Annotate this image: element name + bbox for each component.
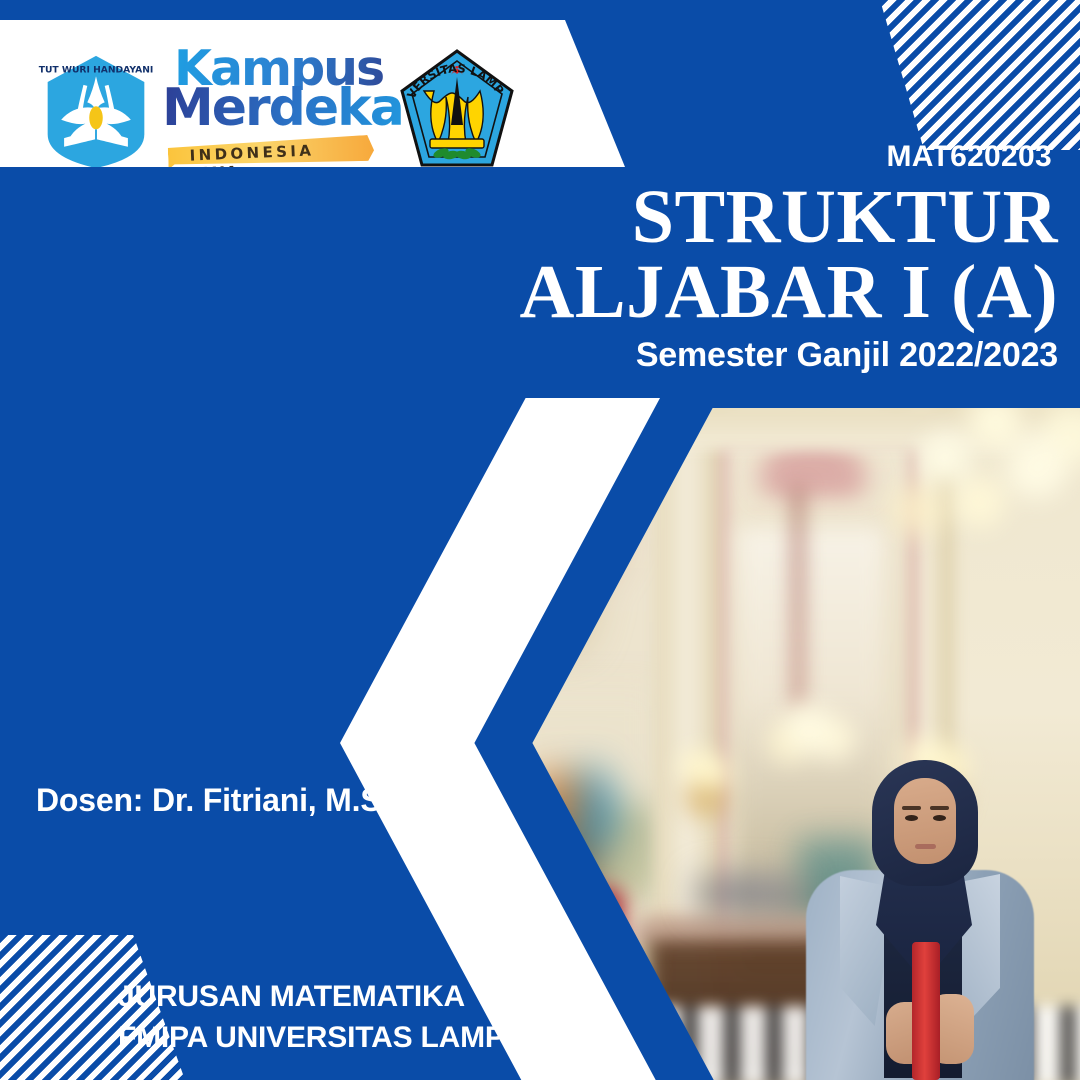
kampus-merdeka-ribbon-text: INDONESIA JAYA — [189, 139, 360, 182]
footer-line-1: JURUSAN MATEMATIKA — [118, 977, 571, 1018]
red-diploma-tube — [912, 942, 940, 1080]
tut-wuri-handayani-logo: TUT WURI HANDAYANI — [38, 53, 154, 171]
chandelier-main — [876, 408, 1080, 578]
course-title-block: STRUKTUR ALJABAR I (A) Semester Ganjil 2… — [298, 180, 1058, 375]
universitas-lampung-logo: UNIVERSITAS LAMPUNG — [394, 47, 520, 181]
mouth — [915, 844, 936, 849]
lecturer-label: Dosen: Dr. Fitriani, M.Sc. — [36, 782, 408, 819]
svg-text:TUT WURI HANDAYANI: TUT WURI HANDAYANI — [39, 64, 154, 75]
department-footer: JURUSAN MATEMATIKA FMIPA UNIVERSITAS LAM… — [118, 977, 571, 1058]
person — [780, 750, 1060, 1080]
course-title-line-2: ALJABAR I (A) — [298, 255, 1058, 330]
logo-header-band: TUT WURI HANDAYANI Kampus Merdeka INDONE… — [0, 20, 625, 167]
mirror-pendant-rod — [794, 488, 802, 708]
semester-label: Semester Ganjil 2022/2023 — [298, 336, 1058, 375]
course-poster: TUT WURI HANDAYANI Kampus Merdeka INDONE… — [0, 0, 1080, 1080]
eyebrow-right — [930, 806, 949, 810]
eyebrow-left — [902, 806, 921, 810]
eye-right — [933, 815, 946, 821]
stripe-decoration-top-right — [880, 0, 1080, 150]
wall-sconce-left — [666, 738, 744, 834]
footer-line-2: FMIPA UNIVERSITAS LAMPUNG — [118, 1018, 571, 1059]
course-title-line-1: STRUKTUR — [298, 180, 1058, 255]
course-code: MAT620203 — [886, 140, 1052, 174]
kampus-merdeka-logo: Kampus Merdeka INDONESIA JAYA — [160, 46, 385, 164]
eye-left — [905, 815, 918, 821]
kampus-merdeka-line2: Merdeka — [162, 86, 403, 131]
face — [894, 778, 956, 864]
